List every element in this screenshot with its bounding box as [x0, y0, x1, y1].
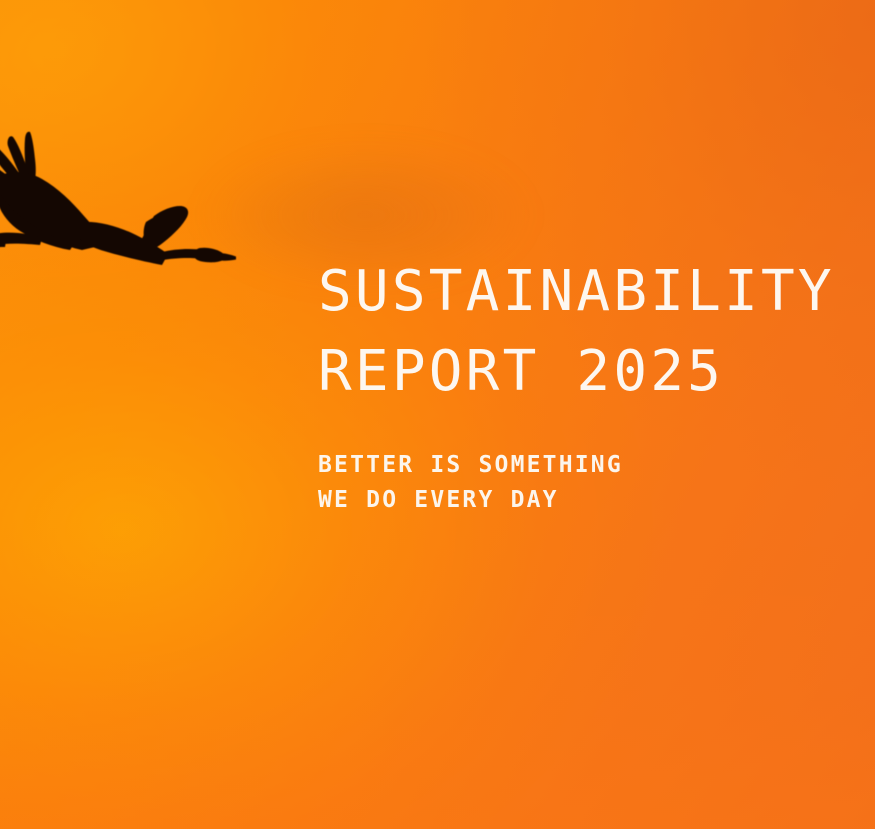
- subtitle-line-1: BETTER IS SOMETHING: [318, 448, 875, 483]
- sustainability-report-cover: SUSTAINABILITY REPORT 2025 BETTER IS SOM…: [0, 0, 875, 829]
- subtitle-block: BETTER IS SOMETHING WE DO EVERY DAY: [318, 448, 875, 518]
- subtitle-line-2: WE DO EVERY DAY: [318, 483, 875, 518]
- page-title-line-1: SUSTAINABILITY: [318, 252, 875, 332]
- page-title-line-2: REPORT 2025: [318, 332, 875, 412]
- cover-text-block: SUSTAINABILITY REPORT 2025 BETTER IS SOM…: [318, 252, 875, 518]
- crane-in-flight-silhouette-icon: [0, 126, 236, 278]
